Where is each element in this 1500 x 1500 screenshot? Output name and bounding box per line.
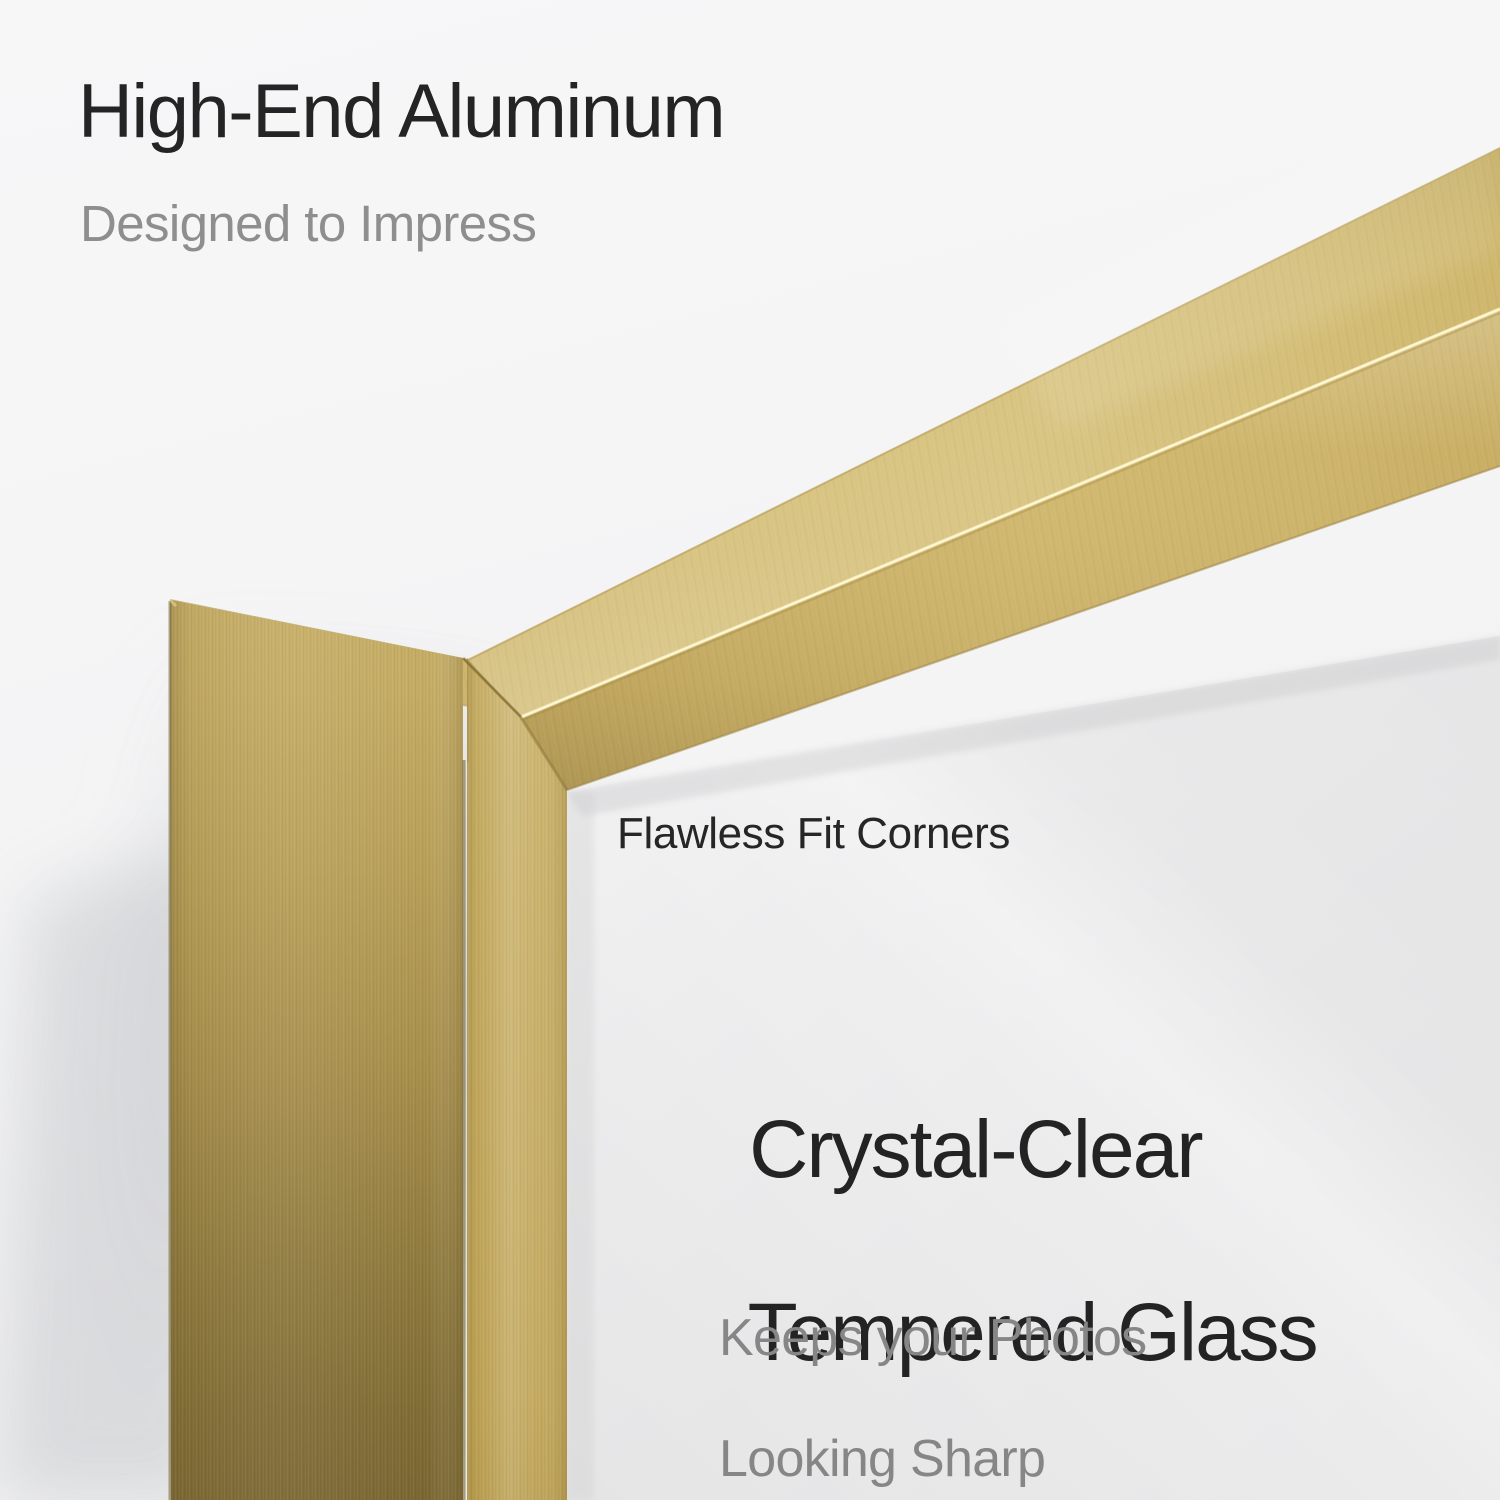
frame-left-stile-inner-face <box>467 658 567 1500</box>
frame-left-stile-outer-face <box>170 600 463 1500</box>
callout-flawless-fit-corners: Flawless Fit Corners <box>617 810 1010 858</box>
callout-glass-subtitle: Keeps your Photos Looking Sharp <box>664 1248 1147 1500</box>
callout-glass-subtitle-line2: Looking Sharp <box>719 1430 1045 1488</box>
callout-glass-title-line1: Crystal-Clear <box>749 1104 1201 1195</box>
callout-glass-subtitle-line1: Keeps your Photos <box>719 1309 1147 1367</box>
stile-outer-edge <box>166 601 170 1500</box>
page-subtitle: Designed to Impress <box>80 196 536 252</box>
page-title: High-End Aluminum <box>78 72 724 153</box>
product-feature-image: High-End Aluminum Designed to Impress Fl… <box>0 0 1500 1500</box>
